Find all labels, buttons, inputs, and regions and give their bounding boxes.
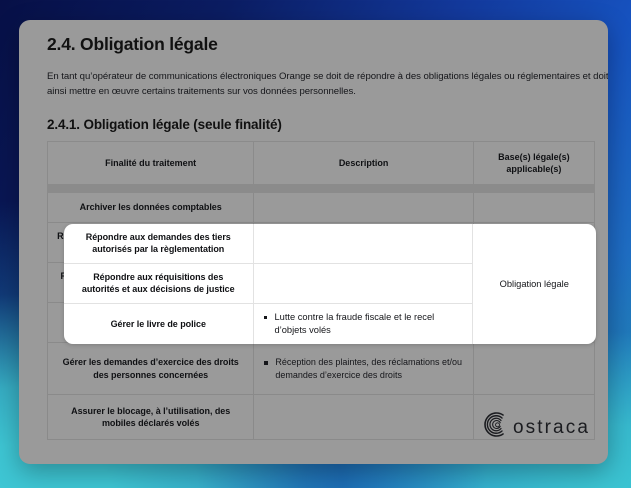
description-bullet-list: Lutte contre la fraude fiscale et le rec…	[264, 311, 464, 337]
separator-cell-3	[473, 185, 594, 193]
cell-base-legale: Obligation légale	[472, 224, 596, 344]
cell-description	[253, 224, 472, 263]
table-row: Archiver les données comptables	[48, 193, 595, 223]
highlighted-table-row: Répondre aux demandes des tiers autorisé…	[64, 224, 596, 263]
table-header-row: Finalité du traitement Description Base(…	[48, 142, 595, 185]
table-header: Finalité du traitement Description Base(…	[48, 142, 595, 185]
ostraca-wordmark: ostraca	[513, 418, 590, 437]
processing-purposes-table-wrapper: Finalité du traitement Description Base(…	[47, 141, 595, 440]
separator-cell-1	[48, 185, 254, 193]
column-header-finalite: Finalité du traitement	[48, 142, 254, 185]
description-bullet-item: Réception des plaintes, des réclamations…	[264, 356, 464, 381]
page-title: 2.4. Obligation légale	[47, 33, 580, 55]
separator-cell-2	[254, 185, 473, 193]
cell-description	[254, 395, 473, 440]
section-subtitle: 2.4.1. Obligation légale (seule finalité…	[47, 117, 580, 132]
cell-finalite: Répondre aux demandes des tiers autorisé…	[64, 224, 253, 263]
column-header-description: Description	[254, 142, 473, 185]
table-separator-band	[48, 185, 595, 193]
description-bullet-item: Lutte contre la fraude fiscale et le rec…	[264, 311, 464, 337]
ostraca-spiral-icon	[481, 412, 506, 442]
cell-finalite: Gérer le livre de police	[64, 303, 253, 344]
cell-base-legale	[473, 193, 594, 223]
highlighted-rows-table: Répondre aux demandes des tiers autorisé…	[64, 224, 596, 344]
cell-base-legale	[473, 343, 594, 395]
table-row: Gérer les demandes d’exercice des droits…	[48, 343, 595, 395]
slide-card: 2.4. Obligation légale En tant qu’opérat…	[19, 20, 608, 464]
intro-paragraph: En tant qu’opérateur de communications é…	[47, 70, 608, 99]
description-bullet-list: Réception des plaintes, des réclamations…	[264, 356, 464, 381]
ostraca-logo: ostraca	[481, 412, 590, 442]
cell-finalite: Archiver les données comptables	[48, 193, 254, 223]
cell-finalite: Répondre aux réquisitions des autorités …	[64, 263, 253, 303]
card-content: 2.4. Obligation légale En tant qu’opérat…	[19, 20, 608, 440]
cell-description: Réception des plaintes, des réclamations…	[254, 343, 473, 395]
cell-description	[253, 263, 472, 303]
cell-finalite: Assurer le blocage, à l’utilisation, des…	[48, 395, 254, 440]
cell-finalite: Gérer les demandes d’exercice des droits…	[48, 343, 254, 395]
highlighted-rows-overlay: Répondre aux demandes des tiers autorisé…	[64, 224, 596, 344]
cell-description	[254, 193, 473, 223]
column-header-base-legale: Base(s) légale(s) applicable(s)	[473, 142, 594, 185]
cell-description: Lutte contre la fraude fiscale et le rec…	[253, 303, 472, 344]
